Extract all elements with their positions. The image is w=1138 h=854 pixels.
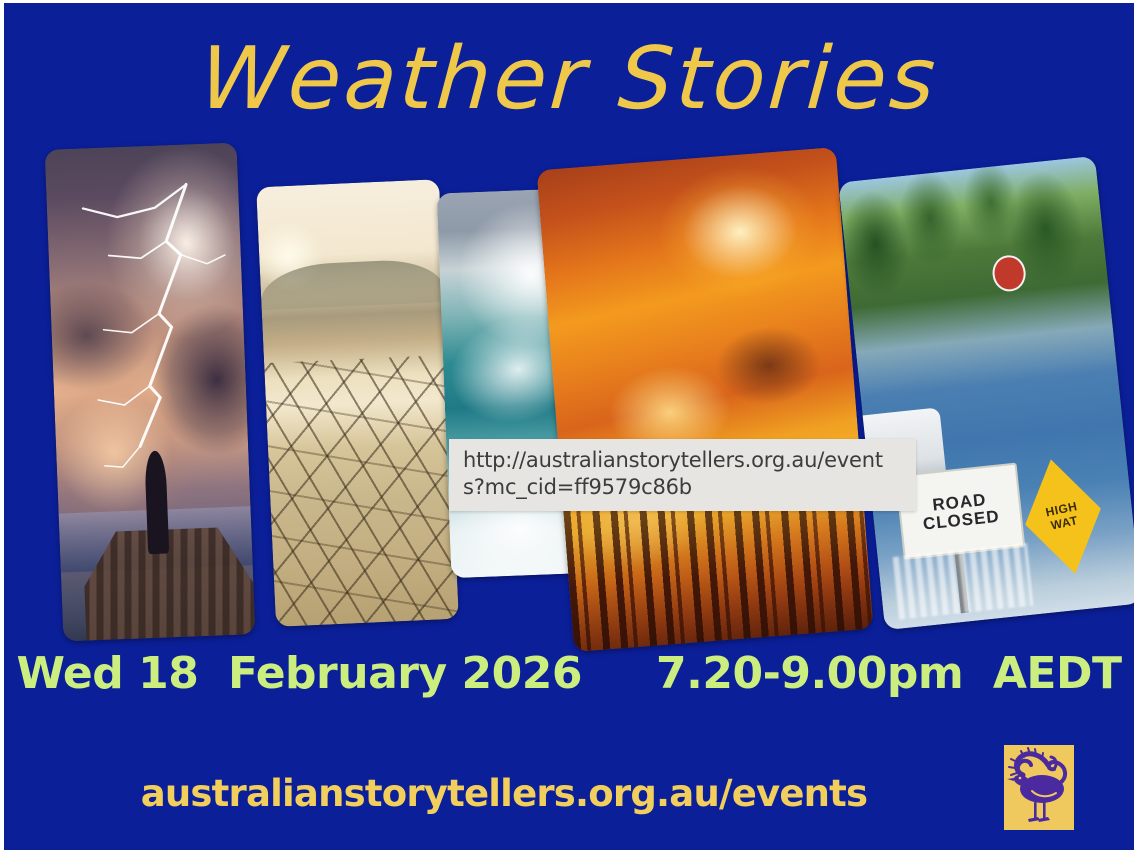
collage-panel-flood[interactable]: ROAD CLOSED HIGH WAT — [838, 156, 1134, 631]
drought-cracked-earth — [264, 355, 459, 627]
collage-panel-fire[interactable] — [537, 147, 874, 652]
australian-storytellers-logo[interactable] — [1004, 745, 1074, 830]
poster-canvas: Weather Stories — [0, 0, 1138, 854]
collage-panel-storm[interactable] — [45, 142, 256, 641]
lyrebird-icon — [1004, 745, 1074, 830]
event-datetime: Wed 18 February 2026 7.20-9.00pm AEDT — [4, 652, 1134, 696]
footer-website-link[interactable]: australianstorytellers.org.au/events — [4, 775, 1004, 812]
link-url-status-tooltip: http://australianstorytellers.org.au/eve… — [449, 439, 916, 511]
weather-image-collage: ROAD CLOSED HIGH WAT — [4, 3, 1134, 663]
poster-background: Weather Stories — [4, 3, 1134, 850]
flood-treeline — [838, 156, 1112, 344]
collage-panel-drought[interactable] — [256, 179, 459, 627]
